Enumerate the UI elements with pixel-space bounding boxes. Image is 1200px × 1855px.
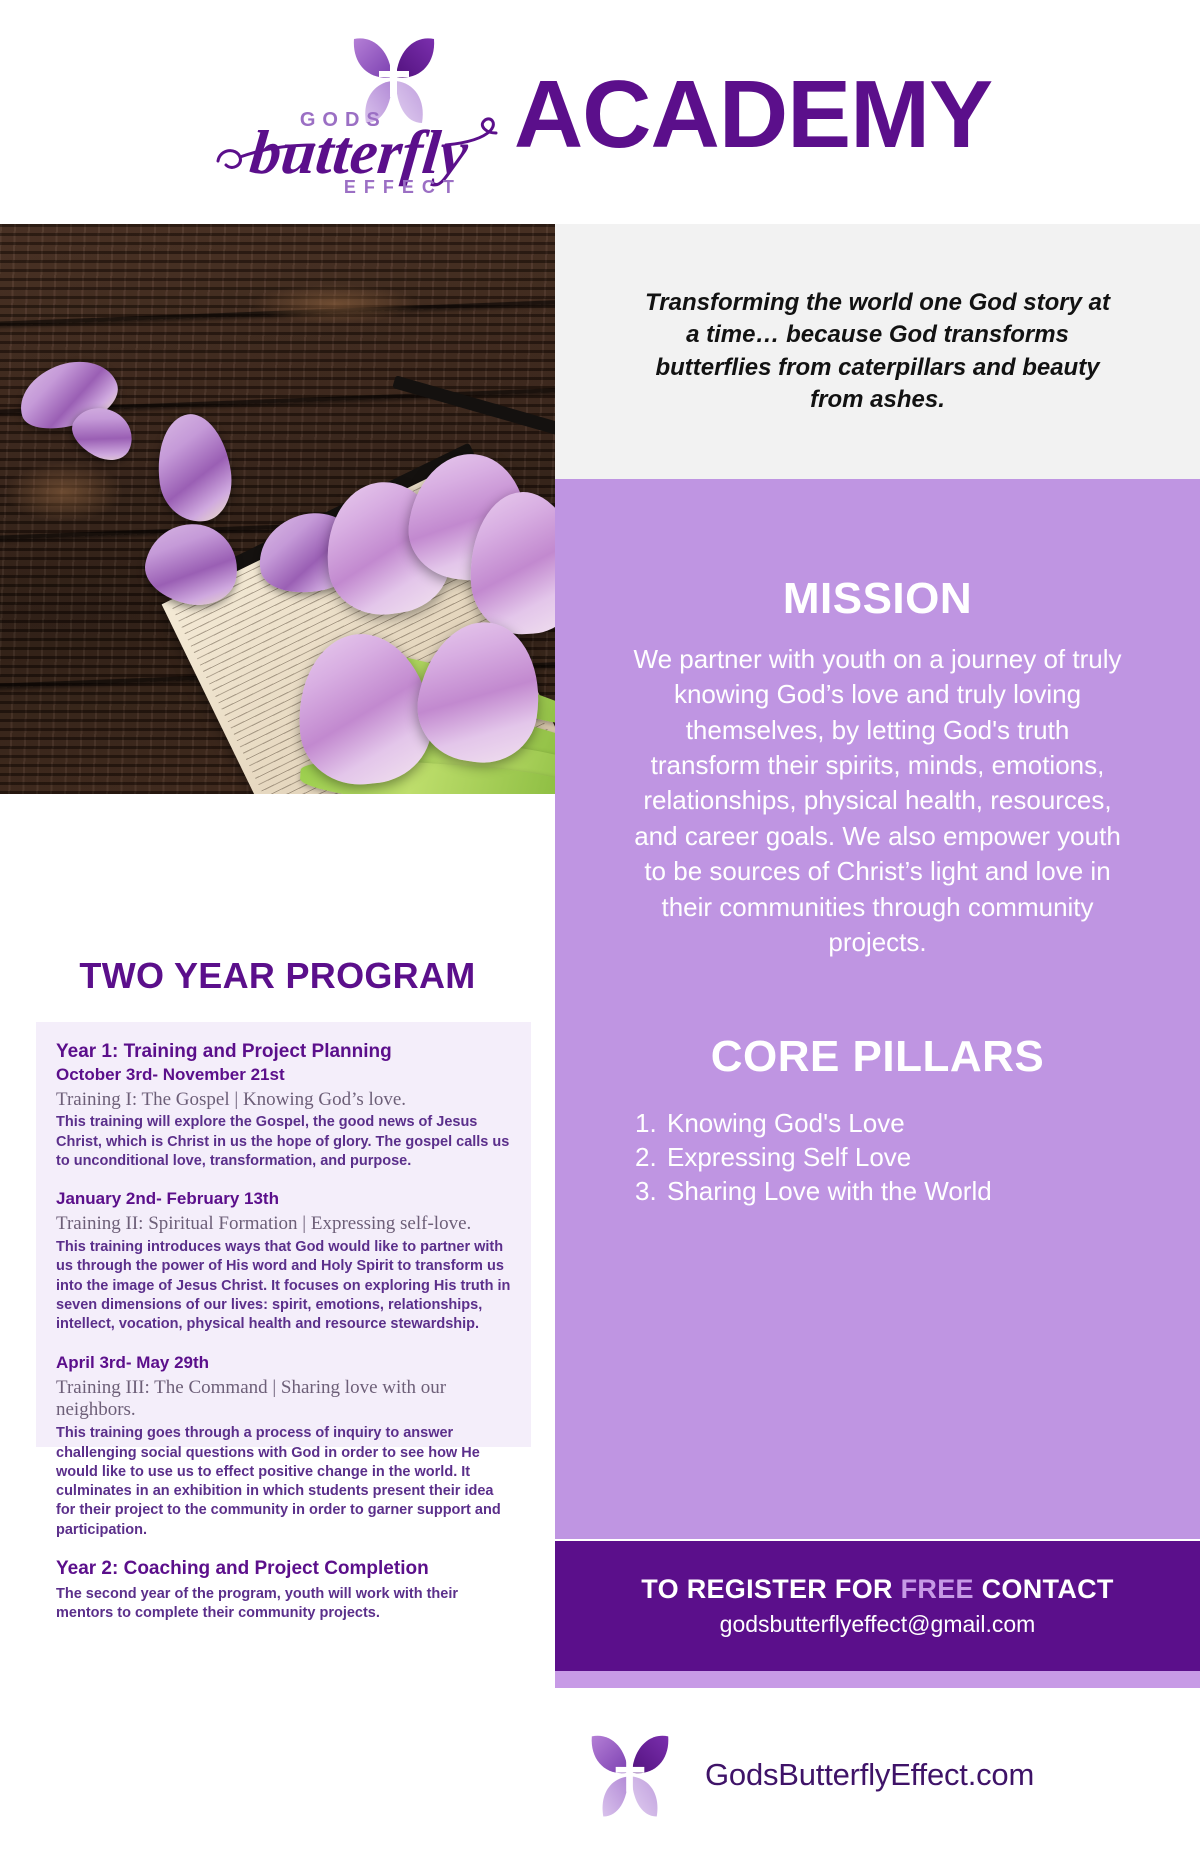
program-title: TWO YEAR PROGRAM	[0, 955, 555, 997]
block-training-title: Training III: The Command | Sharing love…	[56, 1377, 511, 1423]
logo-effect-text: EFFECT	[344, 177, 462, 198]
pillar-number: 1.	[635, 1108, 667, 1140]
program-block-year1: Year 1: Training and Project Planning Oc…	[56, 1040, 511, 1171]
footer-website[interactable]: GodsButterflyEffect.com	[705, 1757, 1034, 1793]
academy-title: ACADEMY	[514, 67, 992, 163]
year2-heading: Year 2: Coaching and Project Completion	[56, 1557, 511, 1581]
list-item: 2. Expressing Self Love	[635, 1142, 1035, 1174]
butterfly-icon	[585, 1723, 675, 1828]
pillar-label: Expressing Self Love	[667, 1142, 911, 1174]
register-free-highlight: FREE	[901, 1574, 974, 1604]
wood-knot	[4, 462, 124, 522]
footer-left-spacer	[0, 1671, 555, 1855]
mission-body: We partner with youth on a journey of tr…	[628, 642, 1128, 960]
program-content-box: Year 1: Training and Project Planning Oc…	[36, 1022, 531, 1447]
tulips-book-photo	[0, 224, 555, 794]
program-block-year2: Year 2: Coaching and Project Completion …	[56, 1557, 511, 1623]
register-accent-strip	[555, 1671, 1200, 1688]
year1-heading: Year 1: Training and Project Planning	[56, 1040, 511, 1064]
footer-butterfly-logo	[585, 1723, 675, 1828]
core-pillars-heading: CORE PILLARS	[555, 960, 1200, 1082]
block-training-title: Training I: The Gospel | Knowing God’s l…	[56, 1089, 511, 1112]
mission-heading: MISSION	[555, 479, 1200, 624]
program-block-2: January 2nd- February 13th Training II: …	[56, 1188, 511, 1334]
block-dates: April 3rd- May 29th	[56, 1352, 511, 1374]
pillar-label: Knowing God's Love	[667, 1108, 905, 1140]
register-text-after: CONTACT	[974, 1574, 1114, 1604]
block-dates: October 3rd- November 21st	[56, 1064, 511, 1086]
list-item: 1. Knowing God's Love	[635, 1108, 1035, 1140]
block-body: This training goes through a process of …	[56, 1424, 511, 1540]
block-training-title: Training II: Spiritual Formation | Expre…	[56, 1213, 511, 1236]
brand-lockup: GODS butterfly EFFECT ACADEMY	[196, 17, 992, 202]
tagline-text: Transforming the world one God story at …	[643, 287, 1113, 416]
tagline-panel: Transforming the world one God story at …	[555, 224, 1200, 479]
block-body: This training introduces ways that God w…	[56, 1238, 511, 1334]
list-item: 3. Sharing Love with the World	[635, 1176, 1035, 1208]
pillar-number: 2.	[635, 1142, 667, 1174]
wood-knot	[250, 284, 420, 324]
pillar-number: 3.	[635, 1176, 667, 1208]
mission-panel: MISSION We partner with youth on a journ…	[555, 479, 1200, 1539]
register-text-before: TO REGISTER FOR	[641, 1574, 900, 1604]
pillar-label: Sharing Love with the World	[667, 1176, 992, 1208]
footer: GodsButterflyEffect.com	[555, 1695, 1200, 1855]
block-dates: January 2nd- February 13th	[56, 1188, 511, 1210]
register-headline: TO REGISTER FOR FREE CONTACT	[641, 1574, 1113, 1605]
flyer-page: GODS butterfly EFFECT ACADEMY	[0, 0, 1200, 1855]
program-block-3: April 3rd- May 29th Training III: The Co…	[56, 1352, 511, 1540]
butterfly-cross-logo: GODS butterfly EFFECT	[196, 17, 496, 202]
core-pillars-list: 1. Knowing God's Love 2. Expressing Self…	[635, 1108, 1035, 1207]
year2-body: The second year of the program, youth wi…	[56, 1585, 511, 1624]
block-body: This training will explore the Gospel, t…	[56, 1113, 511, 1171]
header: GODS butterfly EFFECT ACADEMY	[0, 0, 1200, 218]
register-email[interactable]: godsbutterflyeffect@gmail.com	[720, 1611, 1036, 1638]
register-banner: TO REGISTER FOR FREE CONTACT godsbutterf…	[555, 1541, 1200, 1671]
